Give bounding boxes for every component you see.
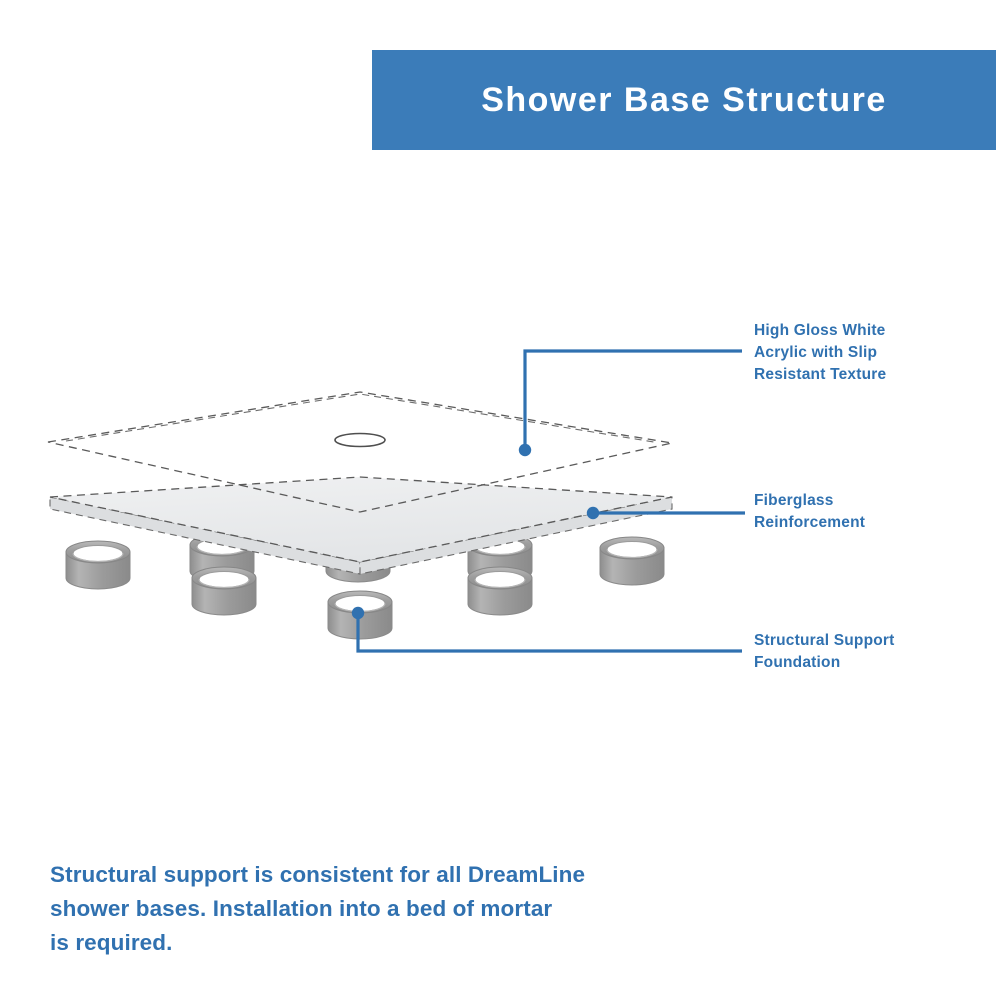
footer-caption: Structural support is consistent for all… bbox=[50, 858, 690, 961]
callout-label-fiberglass: Fiberglass Reinforcement bbox=[754, 490, 994, 534]
support-ring bbox=[600, 537, 664, 585]
callout-label-acrylic: High Gloss White Acrylic with Slip Resis… bbox=[754, 320, 994, 386]
callout-leader-acrylic bbox=[525, 351, 742, 450]
support-ring bbox=[192, 567, 256, 615]
callout-dot-fiberglass bbox=[587, 507, 599, 519]
diagram-canvas: Shower Base Structure bbox=[0, 0, 1000, 1000]
callout-label-foundation: Structural Support Foundation bbox=[754, 630, 994, 674]
fiberglass-panel bbox=[50, 477, 672, 574]
drain-opening-icon bbox=[335, 434, 385, 447]
support-ring bbox=[66, 541, 130, 589]
callout-leader-foundation bbox=[358, 613, 742, 651]
support-ring bbox=[468, 567, 532, 615]
callout-dot-foundation bbox=[352, 607, 364, 619]
callout-dot-acrylic bbox=[519, 444, 531, 456]
